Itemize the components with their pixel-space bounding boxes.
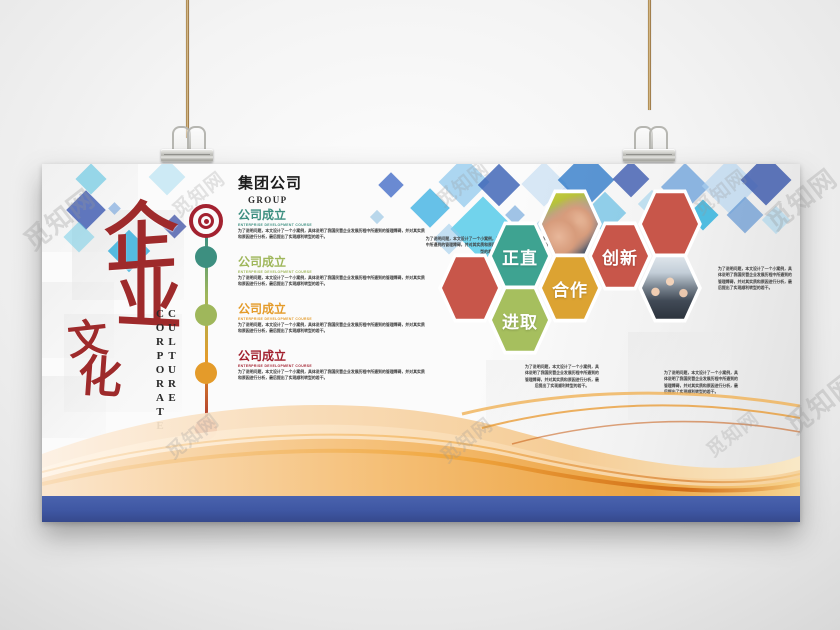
timeline-dot-1 [195, 246, 217, 268]
hexagon-label: 创新 [602, 244, 638, 269]
decor-diamond [762, 206, 790, 234]
clip-arm-right [649, 126, 668, 151]
decor-diamond [613, 164, 650, 197]
hanging-rope-right [648, 0, 651, 110]
timeline-item-body: 为了说明问题，本文设计了一个小案例，具体说明了我国民营企业发展历程中所遇到的管理… [238, 369, 426, 381]
group-header-cn: 集团公司 [238, 172, 302, 193]
group-header: 集团公司 GROUP [238, 172, 302, 205]
timeline-item: 公司成立 ENTERPRISE DEVELOPMENT COURSE 为了说明问… [238, 347, 426, 381]
timeline-item-body: 为了说明问题，本文设计了一个小案例，具体说明了我国民营企业发展历程中所遇到的管理… [238, 228, 426, 240]
target-icon-core [204, 219, 209, 224]
poster-mockup-scene: 企 业 文 化 CULTURE CORPORATE 集团公司 GROUP [0, 0, 840, 630]
timeline-item-subtitle: ENTERPRISE DEVELOPMENT COURSE [238, 223, 426, 227]
decor-diamond [149, 164, 186, 195]
timeline-item-body: 为了说明问题，本文设计了一个小案例，具体说明了我国民营企业发展历程中所遇到的管理… [238, 275, 426, 287]
wave-svg [42, 384, 800, 496]
clip-body [623, 149, 675, 162]
hanging-rope-left [186, 0, 189, 138]
timeline-item-body: 为了说明问题，本文设计了一个小案例，具体说明了我国民营企业发展历程中所遇到的管理… [238, 322, 426, 334]
bottom-blue-bar [42, 496, 800, 522]
binder-clip-right [623, 128, 675, 162]
clip-body [161, 149, 213, 162]
timeline-item-subtitle: ENTERPRISE DEVELOPMENT COURSE [238, 270, 426, 274]
timeline-dot-3 [195, 362, 217, 384]
timeline-items: 公司成立 ENTERPRISE DEVELOPMENT COURSE 为了说明问… [238, 206, 426, 390]
timeline-item-subtitle: ENTERPRISE DEVELOPMENT COURSE [238, 364, 426, 368]
hexagon-label: 合作 [552, 276, 588, 301]
group-header-en: GROUP [248, 195, 302, 205]
timeline-item-subtitle: ENTERPRISE DEVELOPMENT COURSE [238, 317, 426, 321]
hexagon-label: 正直 [502, 244, 538, 269]
timeline-item-title: 公司成立 [238, 347, 426, 364]
timeline-item: 公司成立 ENTERPRISE DEVELOPMENT COURSE 为了说明问… [238, 253, 426, 287]
decorative-wave [42, 384, 800, 496]
timeline-dot-2 [195, 304, 217, 326]
hexagon-label: 进取 [502, 308, 538, 333]
target-icon [189, 204, 223, 238]
timeline-item-title: 公司成立 [238, 206, 426, 223]
corporate-culture-banner: 企 业 文 化 CULTURE CORPORATE 集团公司 GROUP [42, 164, 800, 522]
binder-clip-left [161, 128, 213, 162]
decor-diamond [378, 172, 403, 197]
clip-arm-right [187, 126, 206, 151]
target-icon-ring [198, 213, 214, 229]
timeline-item-title: 公司成立 [238, 300, 426, 317]
timeline-item: 公司成立 ENTERPRISE DEVELOPMENT COURSE 为了说明问… [238, 300, 426, 334]
copy-block-right: 为了说明问题，本文设计了一个小案例，具体说明了我国民营企业发展历程中所遇到的管理… [718, 266, 792, 291]
timeline-item: 公司成立 ENTERPRISE DEVELOPMENT COURSE 为了说明问… [238, 206, 426, 240]
timeline-item-title: 公司成立 [238, 253, 426, 270]
